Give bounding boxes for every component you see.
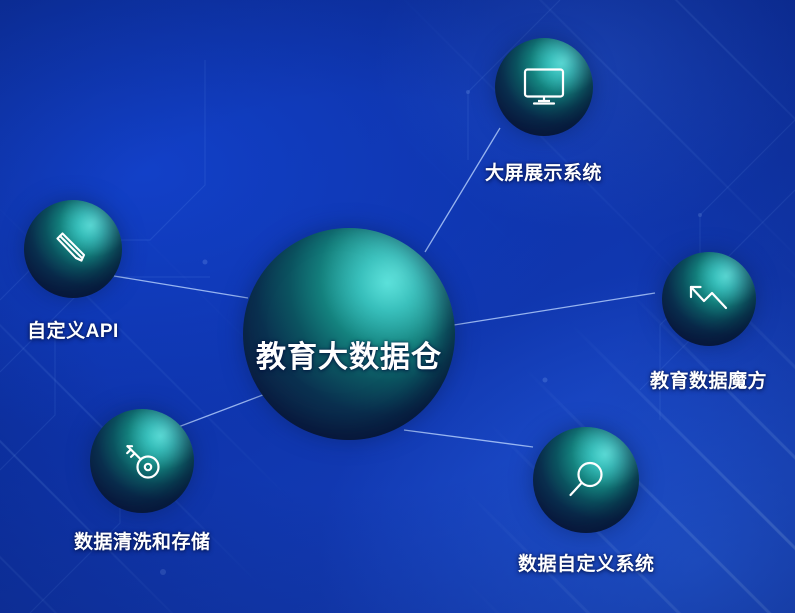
display-label: 大屏展示系统 — [485, 158, 602, 185]
clean-label: 数据清洗和存储 — [74, 527, 211, 554]
node-display[interactable]: 大屏展示系统 — [485, 38, 602, 185]
custom-sphere[interactable] — [533, 427, 639, 533]
custom-label: 数据自定义系统 — [518, 549, 655, 576]
monitor-icon — [522, 67, 566, 107]
api-label: 自定义API — [27, 316, 119, 343]
node-custom[interactable]: 数据自定义系统 — [518, 427, 655, 576]
node-api[interactable]: 自定义API — [24, 200, 122, 343]
clean-sphere[interactable] — [90, 409, 194, 513]
key-icon — [119, 438, 165, 484]
education-big-data-diagram: 教育大数据仓 大屏展示系统 自定义API — [0, 0, 795, 613]
link-center-api — [114, 276, 248, 298]
magnifier-icon — [563, 457, 609, 503]
trend-arrow-icon — [686, 281, 732, 317]
api-sphere[interactable] — [24, 200, 122, 298]
cube-label: 教育数据魔方 — [650, 366, 767, 393]
center-label: 教育大数据仓 — [256, 332, 442, 376]
pen-icon — [51, 227, 95, 271]
display-sphere[interactable] — [495, 38, 593, 136]
link-center-cube — [454, 293, 655, 325]
node-cube[interactable]: 教育数据魔方 — [650, 252, 767, 393]
node-clean[interactable]: 数据清洗和存储 — [74, 409, 211, 554]
node-center[interactable]: 教育大数据仓 — [243, 228, 455, 440]
cube-sphere[interactable] — [662, 252, 756, 346]
